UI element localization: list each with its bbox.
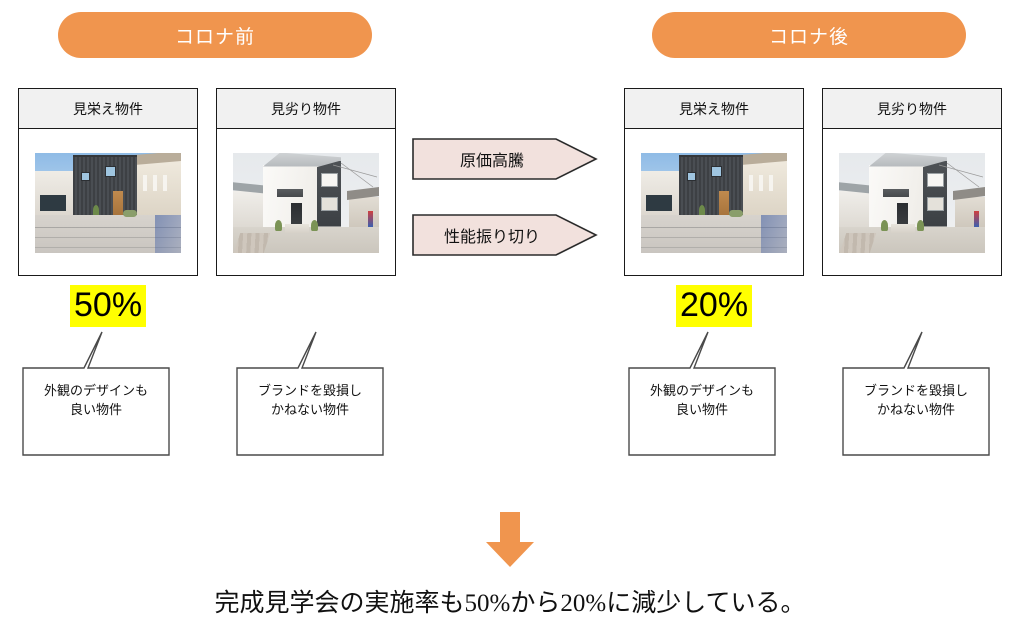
entrance-door <box>897 203 908 225</box>
callout-line-1: 外観のデザインも <box>628 382 776 401</box>
panel-header: 見劣り物件 <box>823 89 1001 129</box>
callout-line-1: 外観のデザインも <box>22 382 170 401</box>
era-pill-before: コロナ前 <box>58 12 372 58</box>
callout-before-good: 外観のデザインも 良い物件 <box>22 330 170 456</box>
shrub <box>275 220 282 231</box>
window <box>105 166 116 177</box>
callout-line-2: かねない物件 <box>842 401 990 420</box>
shrub <box>917 220 924 231</box>
window <box>927 197 944 211</box>
driveway-shadow <box>155 215 181 253</box>
power-lines <box>939 163 983 189</box>
panel-body <box>625 129 803 276</box>
walkway <box>840 233 876 253</box>
panel-header: 見栄え物件 <box>19 89 197 129</box>
property-panel-after-good: 見栄え物件 <box>624 88 804 276</box>
transition-arrow-performance: 性能振り切り <box>412 214 598 256</box>
callout-after-poor: ブランドを毀損し かねない物件 <box>842 330 990 456</box>
modern-dark-house-photo <box>641 153 787 253</box>
window <box>687 172 696 181</box>
neighbor-house-right <box>349 197 379 227</box>
walkway <box>234 233 270 253</box>
property-panel-before-good: 見栄え物件 <box>18 88 198 276</box>
panel-body <box>823 129 1001 276</box>
shrub <box>729 210 743 217</box>
window <box>711 166 722 177</box>
neighbor-house-right <box>137 161 181 215</box>
wooden-door <box>719 191 729 215</box>
callout-line-1: ブランドを毀損し <box>236 382 384 401</box>
property-panel-after-poor: 見劣り物件 <box>822 88 1002 276</box>
transition-arrow-label: 性能振り切り <box>412 214 598 256</box>
banner-flag <box>974 211 979 227</box>
panel-header-label: 見栄え物件 <box>679 99 749 119</box>
window <box>321 197 338 211</box>
entrance-door <box>291 203 302 225</box>
neighbor-house-right <box>955 197 985 227</box>
panel-header-label: 見劣り物件 <box>271 99 341 119</box>
percentage-before: 50% <box>70 285 146 327</box>
white-grey-house-photo <box>233 153 379 253</box>
balcony <box>883 189 909 197</box>
transition-arrow-label: 原価高騰 <box>412 138 598 180</box>
shrub <box>881 220 888 231</box>
shrub <box>311 220 318 231</box>
callout-before-poor: ブランドを毀損し かねない物件 <box>236 330 384 456</box>
callout-line-2: かねない物件 <box>236 401 384 420</box>
shrub <box>93 205 99 215</box>
callout-text: 外観のデザインも 良い物件 <box>628 382 776 420</box>
callout-line-2: 良い物件 <box>22 401 170 420</box>
white-grey-house-photo <box>839 153 985 253</box>
power-lines <box>333 163 377 189</box>
window <box>81 172 90 181</box>
neighbor-house-left <box>839 191 873 227</box>
driveway-shadow <box>761 215 787 253</box>
transition-arrow-cost-surge: 原価高騰 <box>412 138 598 180</box>
entrance-steps <box>285 224 309 233</box>
neighbor-house-left <box>35 171 76 215</box>
balcony <box>277 189 303 197</box>
modern-dark-house-photo <box>35 153 181 253</box>
callout-line-2: 良い物件 <box>628 401 776 420</box>
callout-text: 外観のデザインも 良い物件 <box>22 382 170 420</box>
main-house-dark-siding <box>679 155 743 215</box>
shrub <box>123 210 137 217</box>
neighbor-house-left <box>641 171 682 215</box>
wooden-door <box>113 191 123 215</box>
neighbor-house-left <box>233 191 267 227</box>
era-pill-before-label: コロナ前 <box>175 22 255 49</box>
percentage-after: 20% <box>676 285 752 327</box>
callout-text: ブランドを毀損し かねない物件 <box>236 382 384 420</box>
callout-after-good: 外観のデザインも 良い物件 <box>628 330 776 456</box>
main-house-dark-siding <box>73 155 137 215</box>
property-panel-before-poor: 見劣り物件 <box>216 88 396 276</box>
callout-line-1: ブランドを毀損し <box>842 382 990 401</box>
callout-text: ブランドを毀損し かねない物件 <box>842 382 990 420</box>
neighbor-house-right <box>743 161 787 215</box>
conclusion-text: 完成見学会の実施率も50%から20%に減少している。 <box>0 583 1020 619</box>
banner-flag <box>368 211 373 227</box>
shrub <box>699 205 705 215</box>
era-pill-after-label: コロナ後 <box>769 22 849 49</box>
down-arrow-icon <box>484 512 536 568</box>
panel-body <box>19 129 197 276</box>
entrance-steps <box>891 224 915 233</box>
panel-header-label: 見栄え物件 <box>73 99 143 119</box>
panel-header-label: 見劣り物件 <box>877 99 947 119</box>
panel-header: 見劣り物件 <box>217 89 395 129</box>
era-pill-after: コロナ後 <box>652 12 966 58</box>
panel-header: 見栄え物件 <box>625 89 803 129</box>
panel-body <box>217 129 395 276</box>
